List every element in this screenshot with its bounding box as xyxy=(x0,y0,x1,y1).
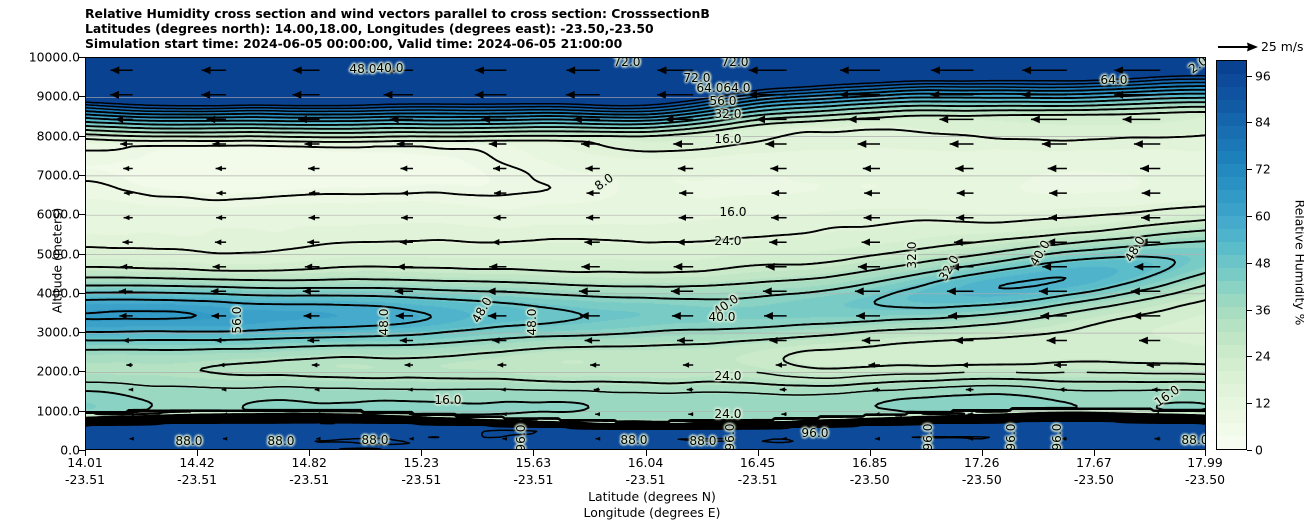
wind-vector-head xyxy=(215,338,221,344)
wind-vector-head xyxy=(840,66,849,74)
y-tick-label: 1000.0 xyxy=(37,403,80,418)
wind-vector-head xyxy=(401,166,408,172)
contour-line xyxy=(86,130,1206,254)
contour-label: 88.0 xyxy=(361,433,388,447)
colorbar-tick-label: 48 xyxy=(1255,255,1271,270)
colorbar-tick-mark xyxy=(1247,356,1252,357)
wind-vector-head xyxy=(401,215,408,221)
wind-vector-head xyxy=(776,362,782,368)
x-tick-label-longitude: -23.51 xyxy=(152,472,242,487)
x-tick-label-longitude: -23.51 xyxy=(713,472,803,487)
contour-label: 16.0 xyxy=(714,132,741,146)
wind-vector-head xyxy=(409,437,413,441)
wind-vector-head xyxy=(875,437,880,441)
colorbar-segment xyxy=(1217,100,1246,113)
contour-label: 96.0 xyxy=(1004,423,1018,450)
wind-vector-head xyxy=(770,165,778,172)
wind-vector-head xyxy=(950,140,959,148)
wind-vector-head xyxy=(501,387,506,391)
wind-vector-head xyxy=(1142,189,1151,196)
cross-section-plot-area: 48.040.072.072.072.064.064.056.032.016.0… xyxy=(85,57,1206,450)
wind-vector-head xyxy=(124,215,130,220)
contour-label: 96.0 xyxy=(801,426,828,440)
wind-vector-head xyxy=(596,437,601,441)
wind-vector-head xyxy=(862,239,870,246)
colorbar-segment xyxy=(1217,436,1246,449)
contour-label: 16.0 xyxy=(719,205,746,219)
y-tick-label: 8000.0 xyxy=(37,128,80,143)
colorbar-segment xyxy=(1217,410,1246,423)
wind-vector-head xyxy=(503,437,508,441)
colorbar-segment xyxy=(1217,397,1246,410)
x-tick-label-longitude: -23.50 xyxy=(825,472,915,487)
wind-vector-head xyxy=(1134,140,1143,148)
wind-vector-head xyxy=(497,362,503,367)
wind-vector-head xyxy=(585,165,592,172)
title-line-3: Simulation start time: 2024-06-05 00:00:… xyxy=(85,36,1205,51)
title-line-1: Relative Humidity cross section and wind… xyxy=(85,6,1205,21)
wind-vector-head xyxy=(1152,387,1158,392)
x-axis-label-latitude: Latitude (degrees N) xyxy=(0,489,1304,504)
wind-vector-head xyxy=(1139,337,1148,345)
x-tick-label-longitude: -23.51 xyxy=(488,472,578,487)
y-tick-label: 9000.0 xyxy=(37,89,80,104)
contour-label: 72.0 xyxy=(721,57,748,69)
x-tick-label-latitude: 16.45 xyxy=(713,455,803,470)
colorbar-tick-mark xyxy=(1247,216,1252,217)
contour-label: 88.0 xyxy=(267,434,294,448)
contour-label: 48.0 xyxy=(349,62,376,76)
colorbar-segment xyxy=(1217,319,1246,332)
wind-vector-head xyxy=(1135,263,1144,271)
colorbar-segment xyxy=(1217,151,1246,164)
wind-vector-head xyxy=(216,190,222,195)
wind-vector-head xyxy=(402,190,409,196)
wind-vector-head xyxy=(1049,190,1057,197)
wind-vector-head xyxy=(215,239,221,245)
colorbar-segment xyxy=(1217,87,1246,100)
colorbar-segment xyxy=(1217,242,1246,255)
wind-vector-head xyxy=(957,190,965,197)
colorbar-tick-label: 0 xyxy=(1255,443,1263,458)
contour-label: 88.0 xyxy=(689,434,716,448)
x-axis-label-longitude: Longitude (degrees E) xyxy=(0,505,1304,520)
right-arrow-icon xyxy=(1216,38,1260,56)
contour-label: 40.0 xyxy=(708,310,735,324)
wind-vector-head xyxy=(400,337,407,343)
colorbar-segment xyxy=(1217,268,1246,281)
colorbar-label: Relative Humidity % xyxy=(1293,148,1304,378)
wind-vector-head xyxy=(587,190,594,196)
contour-label: 48.0 xyxy=(377,308,391,335)
colorbar-segment xyxy=(1217,126,1246,139)
contour-label: 56.0 xyxy=(230,306,244,333)
wind-vector-head xyxy=(780,387,785,392)
colorbar-tick-label: 60 xyxy=(1255,209,1271,224)
y-tick-label: 10000.0 xyxy=(29,50,80,65)
wind-vector-head xyxy=(293,66,302,74)
wind-vector-head xyxy=(400,239,407,245)
contour-label: 88.0 xyxy=(175,434,202,448)
reference-vector-key: 25 m/s xyxy=(1216,38,1304,58)
wind-vector-head xyxy=(955,165,963,172)
contour-label: 64.0 xyxy=(723,81,750,95)
wind-vector-head xyxy=(223,437,227,441)
x-tick-label-latitude: 17.67 xyxy=(1049,455,1139,470)
colorbar-tick-mark xyxy=(1247,169,1252,170)
wind-vector-head xyxy=(397,263,405,270)
wind-vector-head xyxy=(688,412,693,416)
wind-vector-head xyxy=(772,190,780,197)
wind-vector-head xyxy=(856,312,865,320)
colorbar-segment xyxy=(1217,255,1246,268)
wind-vector-head xyxy=(1031,116,1040,124)
colorbar-segment xyxy=(1217,203,1246,216)
wind-vector-head xyxy=(954,337,963,345)
contour-label: 56.0 xyxy=(709,94,736,108)
wind-vector-head xyxy=(121,264,128,270)
x-tick-label-latitude: 16.85 xyxy=(825,455,915,470)
wind-vector-head xyxy=(1155,437,1160,441)
wind-vectors xyxy=(110,66,1160,441)
colorbar-segment xyxy=(1217,371,1246,384)
wind-vector-head xyxy=(309,215,315,221)
colorbar-tick-label: 96 xyxy=(1255,68,1271,83)
wind-vector-head xyxy=(1123,116,1132,124)
colorbar-segment xyxy=(1217,294,1246,307)
x-tick-label-longitude: -23.51 xyxy=(40,472,130,487)
wind-vector-head xyxy=(566,66,575,74)
wind-vector-head xyxy=(683,362,689,368)
wind-vector-head xyxy=(765,140,774,148)
wind-vector-head xyxy=(1048,165,1057,173)
x-tick-label-longitude: -23.50 xyxy=(937,472,1027,487)
y-axis-label: Altitude (meters) xyxy=(50,146,65,376)
wind-vector-head xyxy=(316,437,320,441)
colorbar-tick-mark xyxy=(1247,310,1252,311)
x-tick-label-latitude: 14.42 xyxy=(152,455,242,470)
wind-vector-head xyxy=(202,66,211,74)
wind-vector-head xyxy=(1059,387,1065,392)
colorbar-tick-label: 84 xyxy=(1255,115,1271,130)
x-tick-label-longitude: -23.50 xyxy=(1160,472,1250,487)
colorbar-tick-label: 36 xyxy=(1255,302,1271,317)
wind-vector-head xyxy=(848,116,857,124)
wind-vector-head xyxy=(585,337,593,344)
contour-label: 32.0 xyxy=(905,241,919,268)
colorbar-segment xyxy=(1217,190,1246,203)
contour-label: 32.0 xyxy=(714,107,741,121)
wind-vector-head xyxy=(216,166,222,172)
wind-vector-head xyxy=(863,165,871,172)
wind-vector-head xyxy=(966,387,971,392)
wind-vector-head xyxy=(475,66,484,74)
colorbar-segment xyxy=(1217,281,1246,294)
wind-vector-head xyxy=(111,66,120,74)
colorbar-segment xyxy=(1217,229,1246,242)
wind-vector-head xyxy=(1047,337,1056,345)
x-tick-label-latitude: 16.04 xyxy=(601,455,691,470)
wind-vector-head xyxy=(213,264,220,270)
colorbar-tick-mark xyxy=(1247,76,1252,77)
wind-vector-head xyxy=(307,239,314,245)
contour-label: 96.0 xyxy=(723,423,737,450)
wind-vector-head xyxy=(769,239,777,246)
wind-vector-head xyxy=(862,337,870,344)
contour-label: 48.0 xyxy=(525,308,539,335)
wind-vector-head xyxy=(679,190,686,196)
wind-vector-head xyxy=(580,312,589,320)
wind-vector-head xyxy=(672,312,681,320)
wind-vector-head xyxy=(405,363,411,368)
colorbar-segment xyxy=(1217,113,1246,126)
contour-label: 96.0 xyxy=(1050,423,1064,450)
wind-vector-head xyxy=(123,166,129,171)
colorbar-segment xyxy=(1217,384,1246,397)
colorbar-tick-label: 24 xyxy=(1255,349,1271,364)
contour-label: 72.0 xyxy=(613,57,640,69)
wind-vector-head xyxy=(781,412,786,416)
contour-label: 64.0 xyxy=(1100,73,1127,87)
wind-vector-head xyxy=(304,313,312,320)
colorbar-segment xyxy=(1217,177,1246,190)
x-tick-label-longitude: -23.50 xyxy=(1049,472,1139,487)
wind-vector-head xyxy=(595,412,600,416)
colorbar-segment xyxy=(1217,164,1246,177)
wind-vector-head xyxy=(678,165,686,172)
colorbar-tick-mark xyxy=(1247,263,1252,264)
wind-vector-head xyxy=(677,337,685,344)
colorbar-tick-mark xyxy=(1247,403,1252,404)
contour-label: 24.0 xyxy=(714,369,741,383)
colorbar-tick-label: 12 xyxy=(1255,396,1271,411)
colorbar-segment xyxy=(1217,332,1246,345)
x-tick-label-latitude: 14.01 xyxy=(40,455,130,470)
wind-vector-head xyxy=(312,363,318,368)
x-tick-label-latitude: 15.63 xyxy=(488,455,578,470)
wind-vector-head xyxy=(673,140,682,148)
contour-label: 24.0 xyxy=(714,234,741,248)
wind-vector-head xyxy=(687,387,692,392)
wind-vector-head xyxy=(123,240,129,245)
wind-vector-head xyxy=(939,116,948,124)
colorbar-segment xyxy=(1217,61,1246,74)
wind-vector-head xyxy=(1132,312,1141,320)
contour-label: 96.0 xyxy=(514,424,528,450)
wind-vector-head xyxy=(658,66,667,74)
wind-vector-head xyxy=(764,312,773,320)
x-tick-label-latitude: 15.23 xyxy=(376,455,466,470)
contour-label: 16.0 xyxy=(434,393,461,407)
wind-vector-head xyxy=(961,362,968,368)
wind-vector-head xyxy=(123,338,129,343)
wind-vector-head xyxy=(1022,66,1031,74)
wind-vector-head xyxy=(590,362,596,367)
colorbar-segment xyxy=(1217,423,1246,436)
contour-label: 88.0 xyxy=(620,433,647,447)
wind-vector-head xyxy=(948,312,957,320)
contour-label: 96.0 xyxy=(921,423,935,450)
wind-vector-head xyxy=(396,312,404,319)
wind-vector-head xyxy=(120,141,127,147)
wind-vector-head xyxy=(1042,140,1051,148)
wind-vector-head xyxy=(408,388,413,392)
figure-canvas: Relative Humidity cross section and wind… xyxy=(0,0,1304,526)
wind-vector-head xyxy=(864,190,872,197)
colorbar-segment xyxy=(1217,307,1246,320)
wind-vector-head xyxy=(492,239,499,245)
contour-label: 88.0 xyxy=(1181,433,1206,447)
wind-vector-head xyxy=(493,165,500,171)
wind-vector-head xyxy=(749,66,758,74)
colorbar-tick-mark xyxy=(1247,122,1252,123)
wind-vector-head xyxy=(219,363,224,368)
x-tick-label-longitude: -23.51 xyxy=(376,472,466,487)
contour-label: 64.0 xyxy=(696,81,723,95)
colorbar-segment xyxy=(1217,345,1246,358)
wind-vector-head xyxy=(129,388,134,392)
wind-vector-head xyxy=(931,66,940,74)
wind-vector-head xyxy=(581,263,589,270)
wind-vector-head xyxy=(674,263,683,271)
wind-vector-head xyxy=(216,215,222,220)
colorbar-tick-label: 72 xyxy=(1255,162,1271,177)
wind-vector-head xyxy=(769,337,777,344)
x-tick-label-latitude: 17.26 xyxy=(937,455,1027,470)
wind-vector-head xyxy=(1140,165,1149,173)
contour-label: 40.0 xyxy=(376,61,403,75)
wind-vector-head xyxy=(858,263,867,271)
wind-vector-head xyxy=(858,140,867,148)
colorbar-segment xyxy=(1217,358,1246,371)
wind-vector-head xyxy=(308,166,315,172)
wind-vector-head xyxy=(212,313,219,320)
contour-line xyxy=(86,146,550,201)
figure-title: Relative Humidity cross section and wind… xyxy=(85,6,1205,52)
x-tick-label-latitude: 17.99 xyxy=(1160,455,1250,470)
colorbar-segment xyxy=(1217,74,1246,87)
reference-vector-label: 25 m/s xyxy=(1261,39,1303,54)
wind-vector-head xyxy=(756,116,765,124)
colorbar-segment xyxy=(1217,139,1246,152)
wind-vector-head xyxy=(488,312,496,319)
x-tick-label-latitude: 14.82 xyxy=(264,455,354,470)
contour-label: 24.0 xyxy=(714,407,741,421)
colorbar-segment xyxy=(1217,216,1246,229)
colorbar-tick-mark xyxy=(1247,450,1252,451)
colorbar xyxy=(1216,60,1247,450)
x-tick-label-longitude: -23.51 xyxy=(601,472,691,487)
x-tick-label-longitude: -23.51 xyxy=(264,472,354,487)
wind-vector-head xyxy=(126,363,131,368)
wind-vector-head xyxy=(782,437,787,441)
title-line-2: Latitudes (degrees north): 14.00,18.00, … xyxy=(85,21,1205,36)
wind-vector-head xyxy=(677,239,685,246)
wind-vector-head xyxy=(130,437,134,441)
